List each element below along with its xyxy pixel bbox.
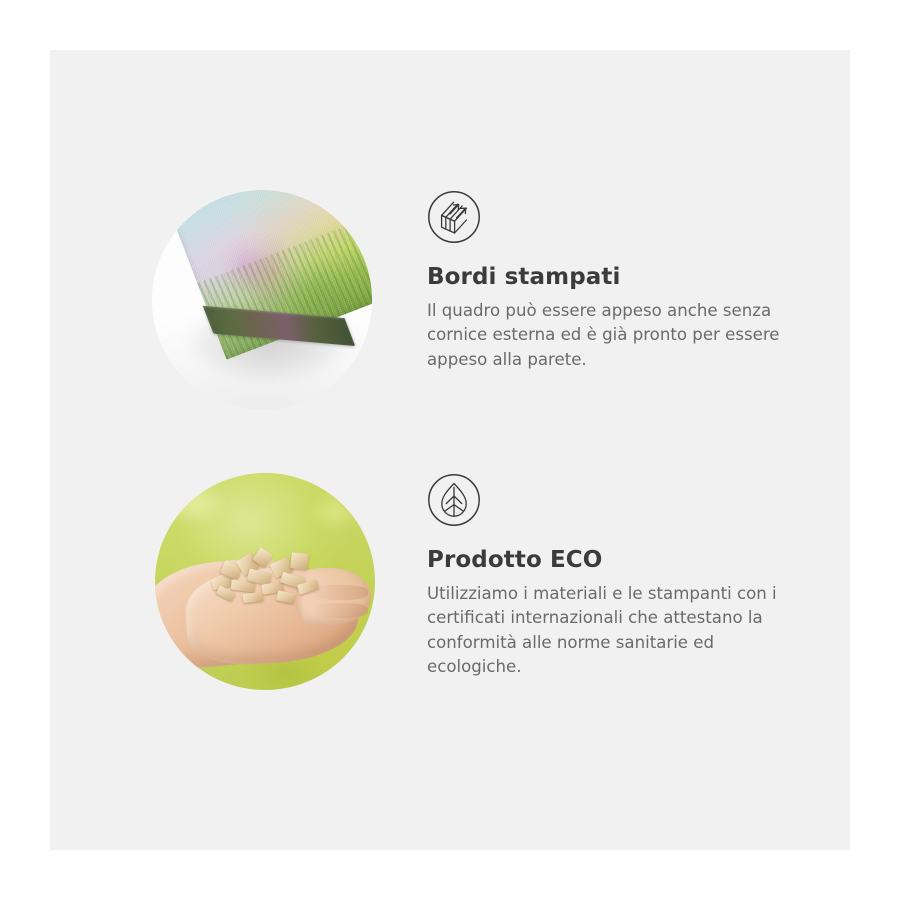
canvas-wrapped-edge-icon — [427, 190, 481, 244]
leaf-icon — [427, 473, 481, 527]
canvas-print-corner-photo — [152, 190, 372, 410]
feature-description: Il quadro può essere appeso anche senza … — [427, 299, 787, 371]
feature-block-printed-edges: Bordi stampati Il quadro può essere appe… — [50, 190, 850, 470]
canvas-print-object — [163, 190, 372, 407]
feature-block-eco-product: Prodotto ECO Utilizziamo i materiali e l… — [50, 473, 850, 753]
content-panel: Bordi stampati Il quadro può essere appe… — [50, 50, 850, 850]
feature-title: Bordi stampati — [427, 264, 807, 290]
meadow-backdrop — [155, 473, 375, 690]
feature-text-column-2: Prodotto ECO Utilizziamo i materiali e l… — [427, 473, 807, 679]
wood-chip-pile — [210, 545, 329, 614]
page-root: Bordi stampati Il quadro può essere appe… — [0, 0, 900, 900]
photo-backdrop — [152, 190, 372, 410]
feature-description: Utilizziamo i materiali e le stampanti c… — [427, 582, 787, 678]
feature-title: Prodotto ECO — [427, 547, 807, 573]
hands-holding-wood-chips-photo — [155, 473, 375, 690]
feature-text-column-1: Bordi stampati Il quadro può essere appe… — [427, 190, 807, 372]
